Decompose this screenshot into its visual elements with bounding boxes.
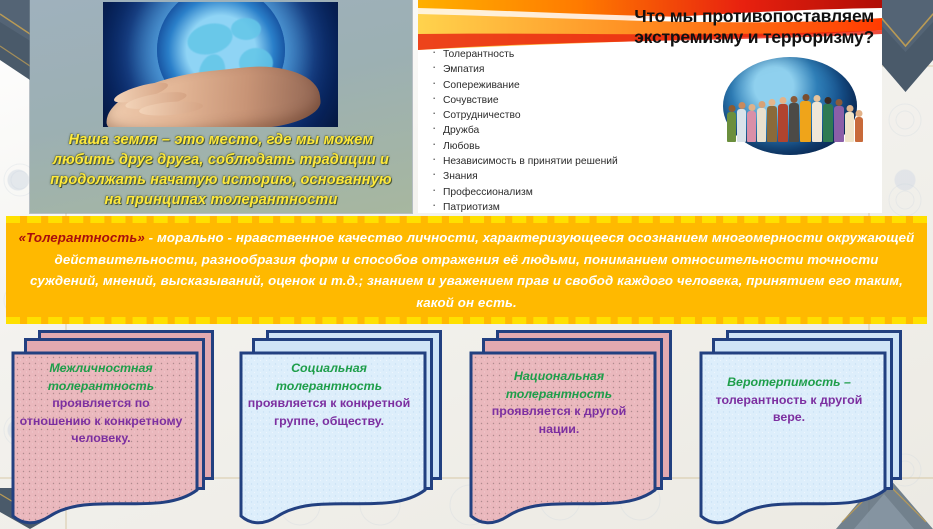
definition-text: «Толерантность» - морально - нравственно… — [13, 227, 921, 313]
card-body: проявляется по отношению к конкретному ч… — [20, 396, 183, 445]
card-religious-tolerance[interactable]: Веротерпимость – толерантность к другой … — [696, 330, 911, 526]
card-label: Веротерпимость – толерантность к другой … — [706, 374, 872, 427]
list-item: Толерантность — [430, 47, 618, 62]
concepts-list: Толерантность Эмпатия Сопереживание Сочу… — [430, 47, 618, 213]
chevron-decoration-top-right — [878, 0, 933, 92]
list-item: Любовь — [430, 139, 618, 154]
left-panel-caption: Наша земля – это место, где мы можем люб… — [40, 130, 402, 210]
definition-term: «Толерантность» — [19, 230, 145, 245]
card-label: Межличностная толерантность проявляется … — [18, 360, 184, 448]
card-label: Национальная толерантность проявляется к… — [476, 368, 642, 438]
card-body: толерантность к другой вере. — [716, 393, 863, 425]
list-item: Эмпатия — [430, 62, 618, 77]
card-social-tolerance[interactable]: Социальная толерантность проявляется к к… — [236, 330, 451, 526]
children-on-globe-photo — [705, 55, 875, 158]
card-heading: Национальная толерантность — [476, 368, 642, 403]
card-interpersonal-tolerance[interactable]: Межличностная толерантность проявляется … — [8, 330, 223, 526]
list-item: Профессионализм — [430, 185, 618, 200]
presentation-slide: Наша земля – это место, где мы можем люб… — [0, 0, 933, 529]
list-item: Дружба — [430, 123, 618, 138]
card-heading: Социальная толерантность — [246, 360, 412, 395]
card-label: Социальная толерантность проявляется к к… — [246, 360, 412, 430]
card-body: проявляется к другой нации. — [492, 404, 626, 436]
card-body: проявляется к конкретной группе, обществ… — [248, 396, 410, 428]
definition-banner: «Толерантность» - морально - нравственно… — [6, 216, 927, 324]
list-item: Независимость в принятии решений — [430, 154, 618, 169]
left-image-panel: Наша земля – это место, где мы можем люб… — [30, 0, 412, 213]
card-heading: Межличностная толерантность — [18, 360, 184, 395]
definition-body: - морально - нравственное качество лично… — [30, 230, 914, 310]
right-content-panel: Что мы противопоставляем экстремизму и т… — [418, 0, 882, 213]
card-national-tolerance[interactable]: Национальная толерантность проявляется к… — [466, 330, 681, 526]
list-item: Патриотизм — [430, 200, 618, 213]
list-item: Сотрудничество — [430, 108, 618, 123]
list-item: Сопереживание — [430, 78, 618, 93]
list-item: Сочувствие — [430, 93, 618, 108]
list-item: Знания — [430, 169, 618, 184]
right-panel-title: Что мы противопоставляем экстремизму и т… — [569, 6, 874, 48]
earth-in-hand-photo — [103, 2, 338, 127]
card-heading: Веротерпимость – — [706, 374, 872, 392]
tolerance-types-cards: Межличностная толерантность проявляется … — [0, 330, 933, 529]
